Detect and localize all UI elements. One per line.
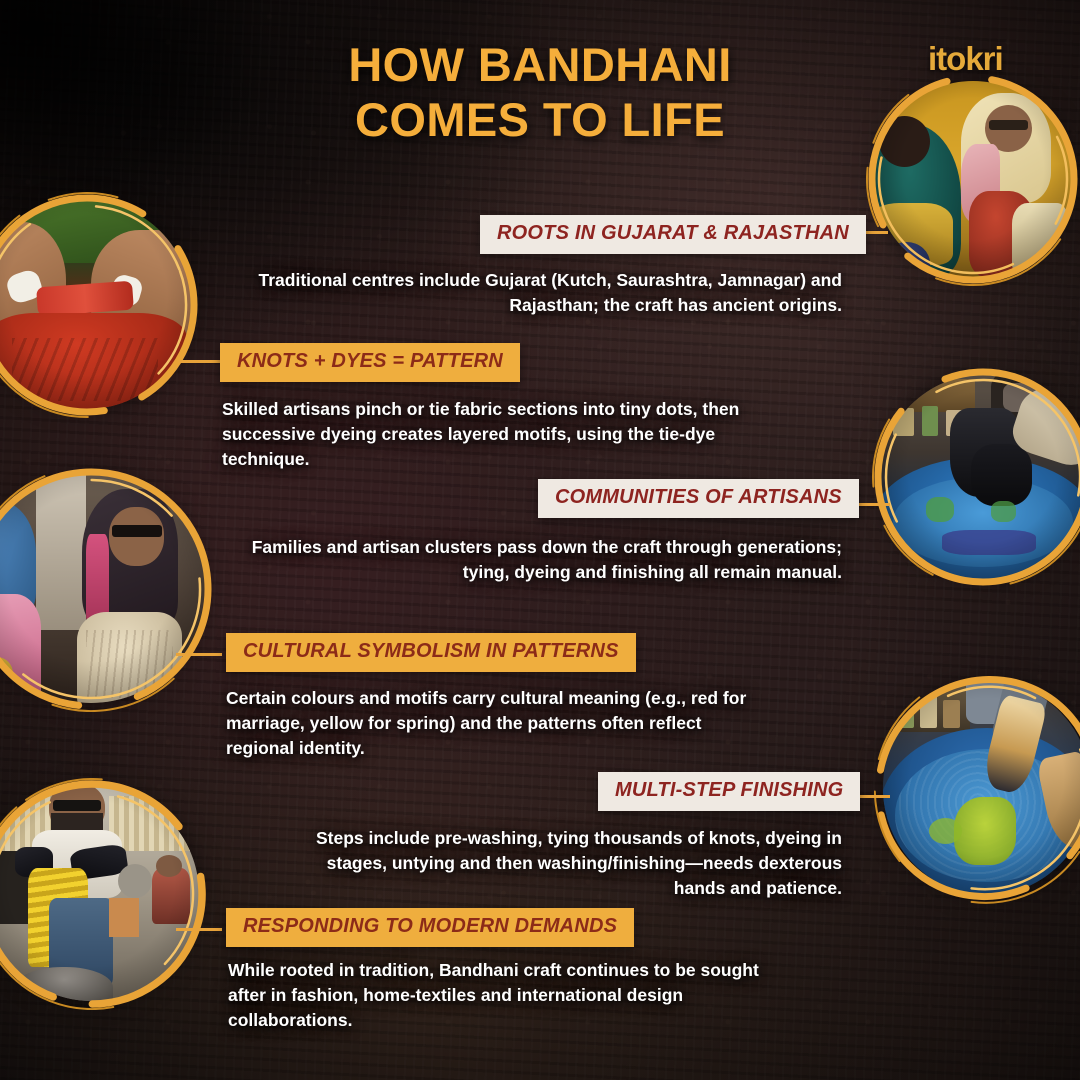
photo-yellow-lift <box>0 778 208 1010</box>
section-body-symbolism: Certain colours and motifs carry cultura… <box>226 686 772 761</box>
section-body-communities: Families and artisan clusters pass down … <box>248 535 842 585</box>
section-body-knots: Skilled artisans pinch or tie fabric sec… <box>222 397 762 472</box>
page-title-line-1: HOW BANDHANI <box>348 38 731 91</box>
page-title-line-2: COMES TO LIFE <box>0 93 1080 148</box>
section-heading-symbolism: CULTURAL SYMBOLISM IN PATTERNS <box>226 633 636 672</box>
photo-hands-red <box>0 192 200 418</box>
connector-line-4 <box>176 653 222 656</box>
photo-dye-dipping <box>874 672 1080 904</box>
medallion-ring-4 <box>872 366 1080 588</box>
medallion-ring-3 <box>0 466 214 712</box>
page-title: HOW BANDHANI COMES TO LIFE <box>0 38 1080 148</box>
section-body-modern: While rooted in tradition, Bandhani craf… <box>228 958 788 1033</box>
section-heading-modern: RESPONDING TO MODERN DEMANDS <box>226 908 634 947</box>
medallion-ring-2 <box>0 192 200 418</box>
medallion-ring-5 <box>874 672 1080 904</box>
section-heading-knots: KNOTS + DYES = PATTERN <box>220 343 520 382</box>
connector-line-6 <box>176 928 222 931</box>
photo-dye-vat-blue <box>872 366 1080 588</box>
section-body-roots: Traditional centres include Gujarat (Kut… <box>250 268 842 318</box>
section-body-finishing: Steps include pre-washing, tying thousan… <box>298 826 842 901</box>
photo-woman-seated <box>0 466 214 712</box>
logo-text: itokri <box>928 38 1048 80</box>
itokri-logo[interactable]: itokri <box>928 38 1048 80</box>
medallion-ring-6 <box>0 778 208 1010</box>
section-heading-finishing: MULTI-STEP FINISHING <box>598 772 860 811</box>
section-heading-roots: ROOTS IN GUJARAT & RAJASTHAN <box>480 215 866 254</box>
section-heading-communities: COMMUNITIES OF ARTISANS <box>538 479 859 518</box>
connector-line-2 <box>178 360 222 363</box>
